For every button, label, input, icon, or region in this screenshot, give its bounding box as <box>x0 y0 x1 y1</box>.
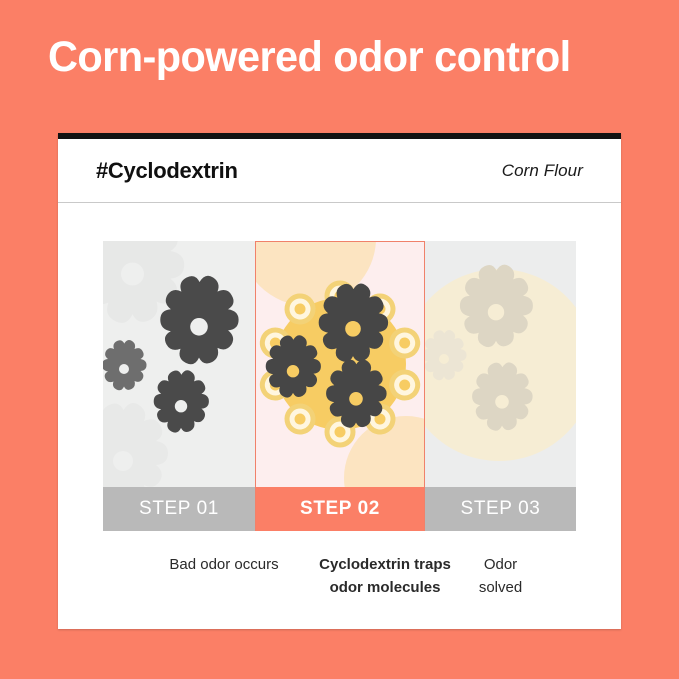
info-card: #Cyclodextrin Corn Flour <box>58 133 621 629</box>
step-02-caption-line2: odor molecules <box>330 579 441 596</box>
step-panel-02: STEP 02 <box>255 241 425 531</box>
step-03-caption: Odor solved <box>470 553 531 600</box>
infographic-page: Corn-powered odor control #Cyclodextrin … <box>0 0 679 679</box>
steps-row: STEP 01 <box>103 241 576 531</box>
card-header: #Cyclodextrin Corn Flour <box>58 139 621 203</box>
step-03-label: STEP 03 <box>461 498 541 520</box>
hashtag-title: #Cyclodextrin <box>96 158 238 184</box>
step-01-label: STEP 01 <box>139 498 219 520</box>
step-03-illustration <box>425 241 576 487</box>
steps-section: STEP 01 <box>58 203 621 600</box>
step-02-caption: Cyclodextrin traps odor molecules <box>300 553 470 600</box>
step-panel-01: STEP 01 <box>103 241 255 531</box>
step-02-caption-line1: Cyclodextrin traps <box>319 556 451 573</box>
step-02-bar: STEP 02 <box>255 487 425 531</box>
step-01-art-svg <box>103 241 255 487</box>
step-01-illustration <box>103 241 255 487</box>
step-02-illustration <box>256 242 424 487</box>
step-02-label: STEP 02 <box>300 498 380 520</box>
odor-molecule-small <box>103 340 147 390</box>
page-title: Corn-powered odor control <box>48 35 627 80</box>
step-02-art-svg <box>256 242 424 487</box>
step-captions: Bad odor occurs Cyclodextrin traps odor … <box>103 553 576 600</box>
step-01-bar: STEP 01 <box>103 487 255 531</box>
odor-molecule-medium <box>154 370 209 432</box>
ingredient-note: Corn Flour <box>502 161 583 181</box>
step-panel-03: STEP 03 <box>425 241 576 531</box>
step-03-bar: STEP 03 <box>425 487 576 531</box>
step-01-caption: Bad odor occurs <box>148 553 300 600</box>
step-03-art-svg <box>425 241 576 487</box>
